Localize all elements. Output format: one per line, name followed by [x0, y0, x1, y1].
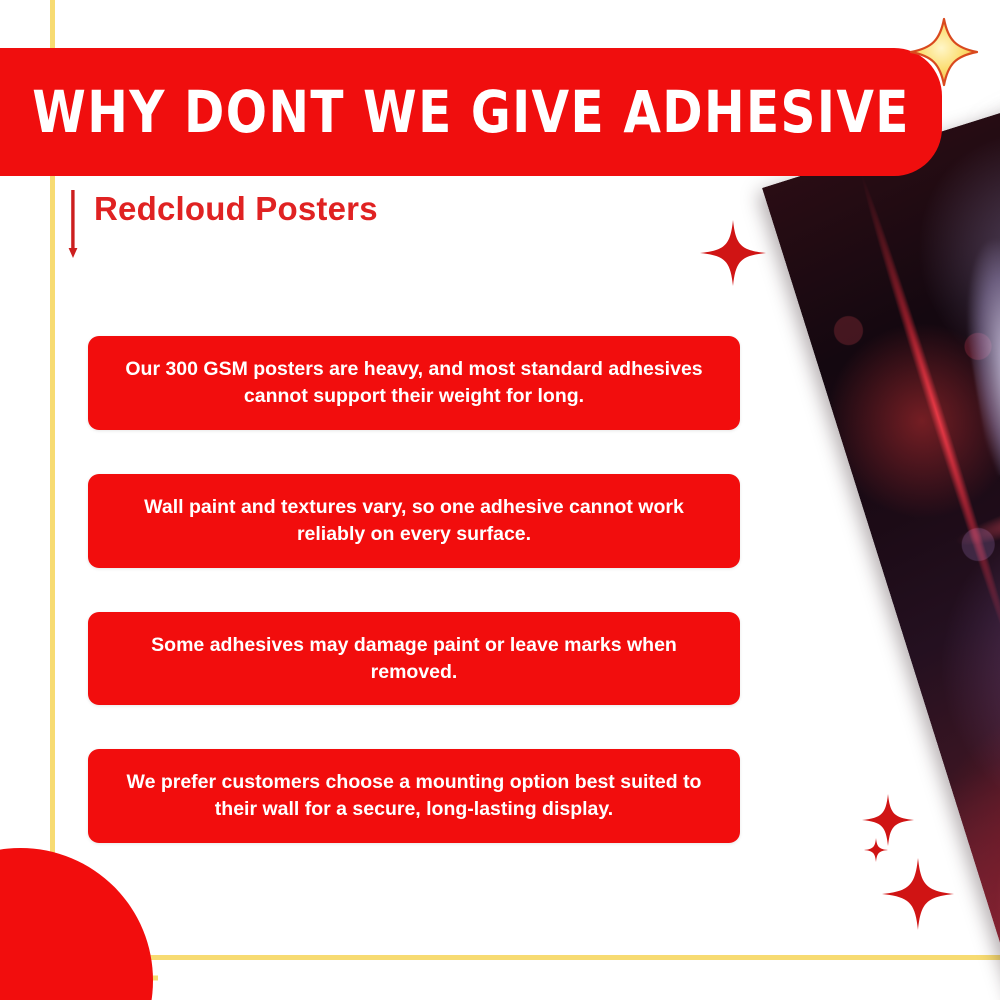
gold-sparkle-star-icon — [908, 16, 980, 88]
red-sparkle-star-icon — [882, 858, 954, 930]
bullet-box: We prefer customers choose a mounting op… — [88, 749, 740, 843]
subtitle-text: Redcloud Posters — [94, 190, 378, 227]
yellow-horizontal-line — [50, 955, 1000, 960]
page-title: WHY DONT WE GIVE ADHESIVE — [12, 83, 910, 141]
bullet-box: Our 300 GSM posters are heavy, and most … — [88, 336, 740, 430]
bullet-list: Our 300 GSM posters are heavy, and most … — [88, 336, 740, 843]
down-arrow-line-icon — [68, 190, 78, 258]
red-sparkle-star-icon — [700, 220, 766, 286]
subtitle-block: Redcloud Posters — [68, 190, 378, 258]
quarter-circle-icon — [0, 848, 153, 1000]
bullet-box: Wall paint and textures vary, so one adh… — [88, 474, 740, 568]
bullet-box: Some adhesives may damage paint or leave… — [88, 612, 740, 706]
header-banner: WHY DONT WE GIVE ADHESIVE — [0, 48, 942, 176]
poster-infographic-canvas: WHY DONT WE GIVE ADHESIVE Redcloud Poste… — [0, 0, 1000, 1000]
